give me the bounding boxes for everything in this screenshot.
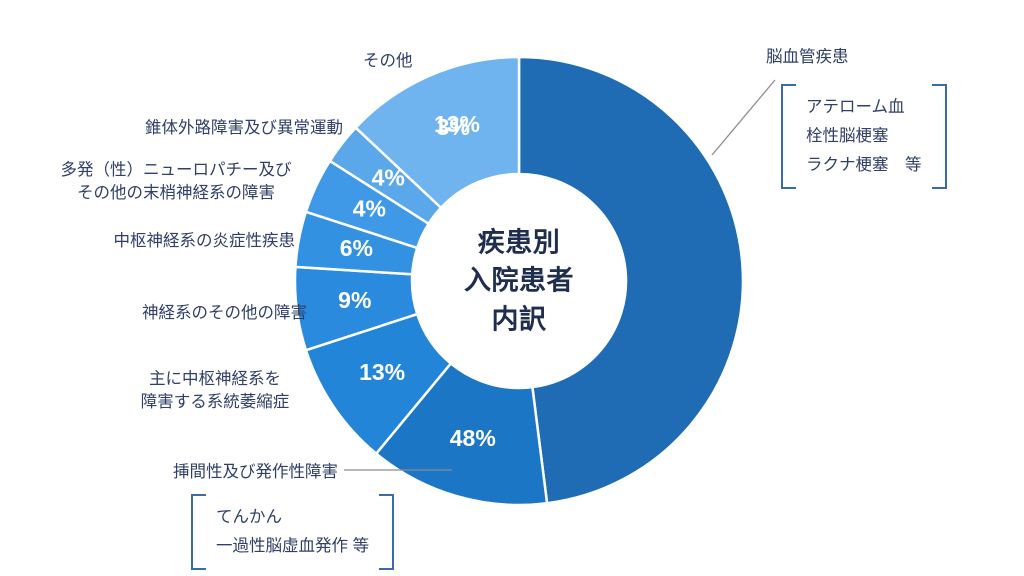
callout-polyneuropathy-line-2: その他の末梢神経系の障害 xyxy=(35,182,317,205)
callout-bracket-episodic: てんかん 一過性脳虚血発作 等 xyxy=(191,494,394,570)
bracket-line-1: アテローム血 xyxy=(806,93,922,122)
callout-title-cns-inflammatory: 中枢神経系の炎症性疾患 xyxy=(114,232,296,250)
callout-label-episodic: 挿間性及び発作性障害 xyxy=(0,461,338,484)
callout-title-nervous-other: 神経系のその他の障害 xyxy=(142,304,307,322)
callout-systemic-atrophy-line-1: 主に中枢神経系を xyxy=(120,368,310,391)
bracket-content-episodic: てんかん 一過性脳虚血発作 等 xyxy=(206,494,379,570)
leader-line-cerebrovascular xyxy=(712,80,775,155)
slice-percent-3: 6% xyxy=(340,235,373,261)
bracket-arm-right xyxy=(932,84,947,189)
bracket-content-cerebrovascular: アテローム血 栓性脳梗塞 ラクナ梗塞 等 xyxy=(796,84,932,189)
callout-title-episodic: 挿間性及び発作性障害 xyxy=(173,463,338,481)
center-title-line-1: 疾患別 xyxy=(464,224,574,262)
callout-label-cns-inflammatory: 中枢神経系の炎症性疾患 xyxy=(0,230,295,253)
slice-percent-7: 13% xyxy=(434,111,480,137)
callout-label-extrapyramidal: 錐体外路障害及び異常運動 xyxy=(0,117,343,140)
slice-percent-0: 48% xyxy=(450,425,496,451)
center-title-line-2: 入院患者 xyxy=(464,262,574,300)
callout-label-systemic-atrophy: 主に中枢神経系を 障害する系統萎縮症 xyxy=(120,368,310,415)
bracket-line-2: 一過性脳虚血発作 等 xyxy=(216,532,369,561)
callout-title-cerebrovascular: 脳血管疾患 xyxy=(766,48,849,66)
callout-title-other: その他 xyxy=(363,52,413,70)
slice-percent-2: 9% xyxy=(338,287,371,313)
bracket-arm-left xyxy=(781,84,796,189)
callout-systemic-atrophy-line-2: 障害する系統萎縮症 xyxy=(120,391,310,414)
bracket-arm-right xyxy=(379,494,394,570)
callout-label-nervous-other: 神経系のその他の障害 xyxy=(0,302,307,325)
callout-title-extrapyramidal: 錐体外路障害及び異常運動 xyxy=(145,119,343,137)
chart-canvas: 48% 13% 9% 6% 4% 4% 3% 13% 疾患別 入院患者 内訳 脳… xyxy=(0,0,1024,576)
slice-percent-1: 13% xyxy=(359,359,405,385)
callout-polyneuropathy-line-1: 多発（性）ニューロパチー及び xyxy=(35,159,317,182)
callout-bracket-cerebrovascular: アテローム血 栓性脳梗塞 ラクナ梗塞 等 xyxy=(781,84,947,189)
callout-label-other: その他 xyxy=(363,50,413,73)
slice-percent-4: 4% xyxy=(353,196,386,222)
chart-center-title: 疾患別 入院患者 内訳 xyxy=(464,224,574,339)
bracket-line-1: てんかん xyxy=(216,503,369,532)
center-title-line-3: 内訳 xyxy=(464,300,574,338)
callout-label-cerebrovascular: 脳血管疾患 xyxy=(766,46,849,69)
bracket-line-2: 栓性脳梗塞 xyxy=(806,122,922,151)
slice-percent-5: 4% xyxy=(372,165,405,191)
bracket-line-3: ラクナ梗塞 等 xyxy=(806,151,922,180)
callout-label-polyneuropathy: 多発（性）ニューロパチー及び その他の末梢神経系の障害 xyxy=(35,159,317,206)
bracket-arm-left xyxy=(191,494,206,570)
